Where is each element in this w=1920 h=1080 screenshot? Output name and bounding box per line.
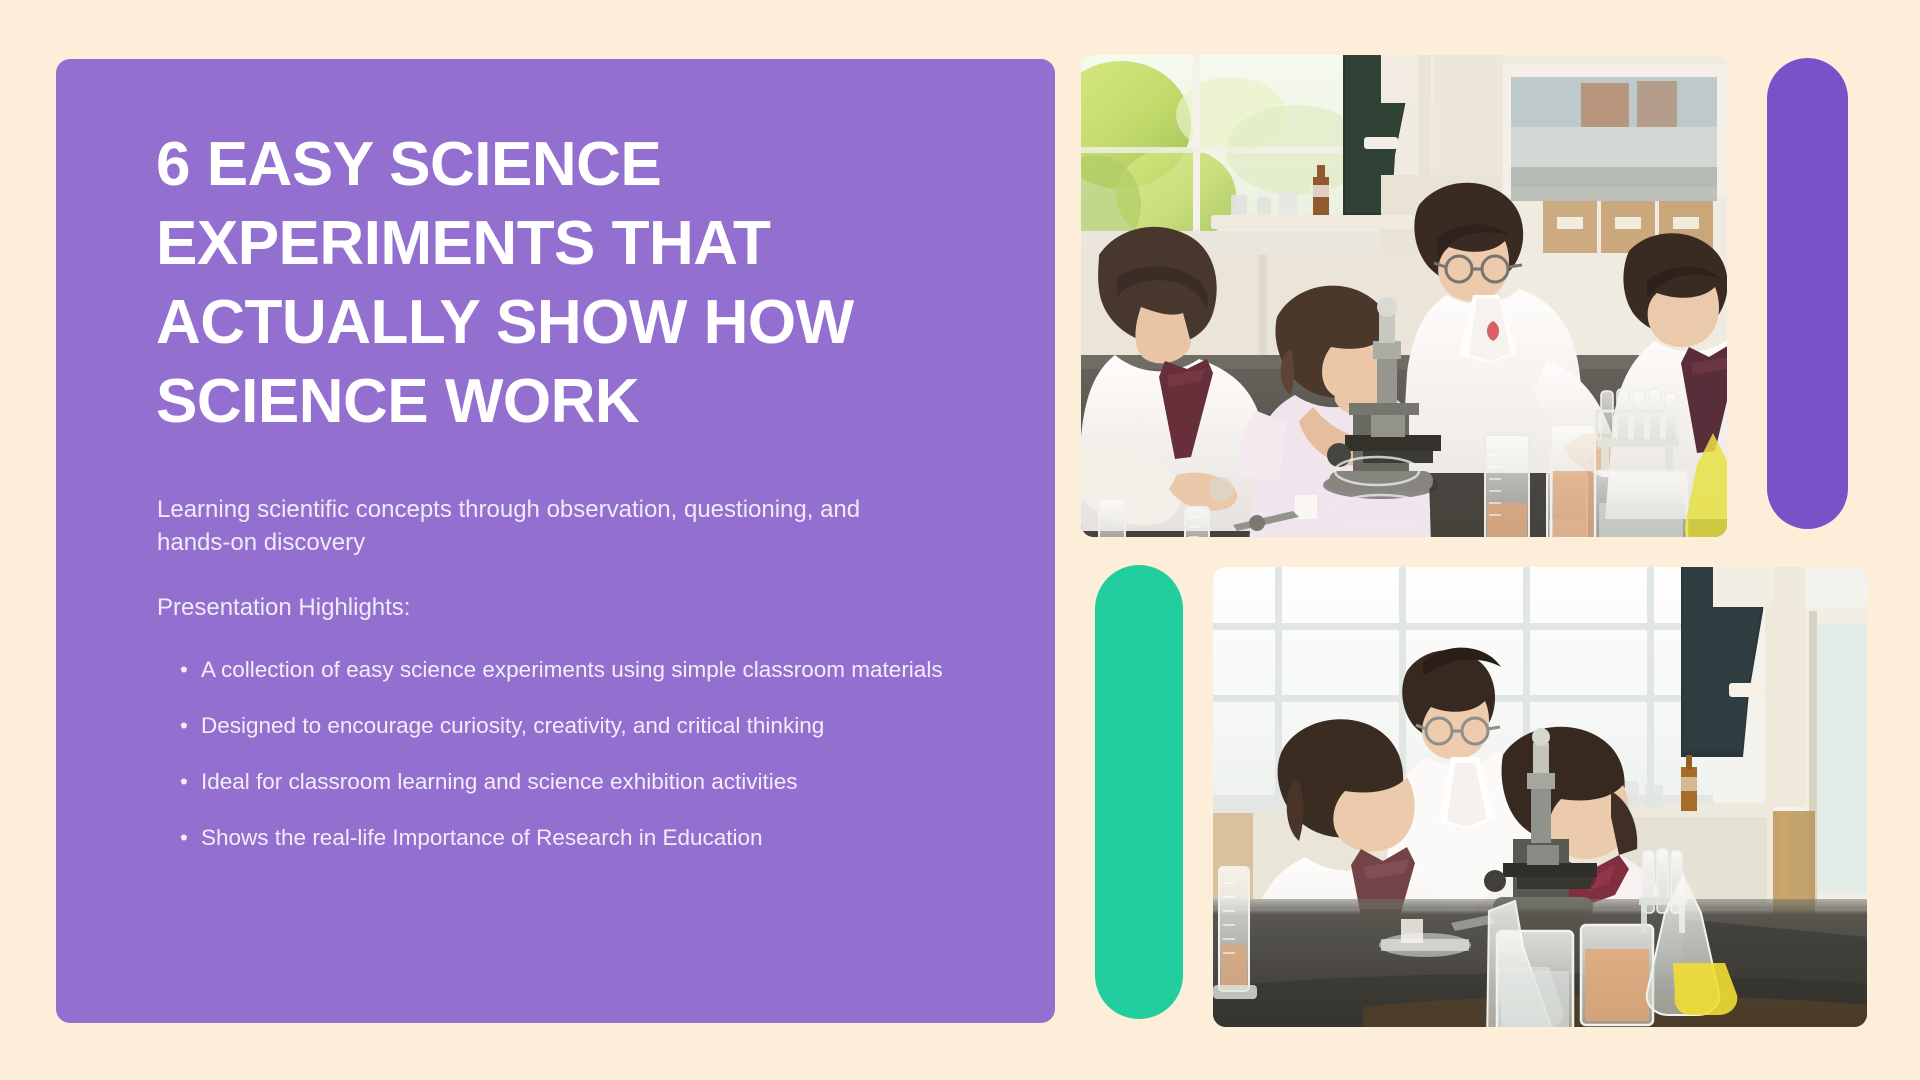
list-item: • A collection of easy science experimen… (174, 654, 974, 686)
list-item-label: A collection of easy science experiments… (201, 657, 943, 682)
decorative-pill-purple (1767, 58, 1848, 529)
list-item: • Shows the real-life Importance of Rese… (174, 822, 974, 854)
list-item-label: Ideal for classroom learning and science… (201, 769, 798, 794)
students-microscope-lab-top-photo (1081, 55, 1727, 537)
highlights-bullet-list: • A collection of easy science experimen… (174, 654, 974, 878)
lab-scene-bottom-illustration (1213, 567, 1867, 1027)
highlights-label: Presentation Highlights: (157, 591, 410, 624)
decorative-pill-teal (1095, 565, 1183, 1019)
slide-subtitle: Learning scientific concepts through obs… (157, 493, 877, 559)
list-item: • Ideal for classroom learning and scien… (174, 766, 974, 798)
bullet-dot-icon: • (180, 654, 188, 686)
page-title: 6 Easy Science Experiments That Actually… (156, 125, 1036, 441)
slide-content-card: 6 Easy Science Experiments That Actually… (56, 59, 1055, 1023)
lab-scene-top-illustration (1081, 55, 1727, 537)
bullet-dot-icon: • (180, 822, 188, 854)
bullet-dot-icon: • (180, 766, 188, 798)
bullet-dot-icon: • (180, 710, 188, 742)
list-item: • Designed to encourage curiosity, creat… (174, 710, 974, 742)
list-item-label: Shows the real-life Importance of Resear… (201, 825, 763, 850)
list-item-label: Designed to encourage curiosity, creativ… (201, 713, 824, 738)
students-microscope-lab-bottom-photo (1213, 567, 1867, 1027)
